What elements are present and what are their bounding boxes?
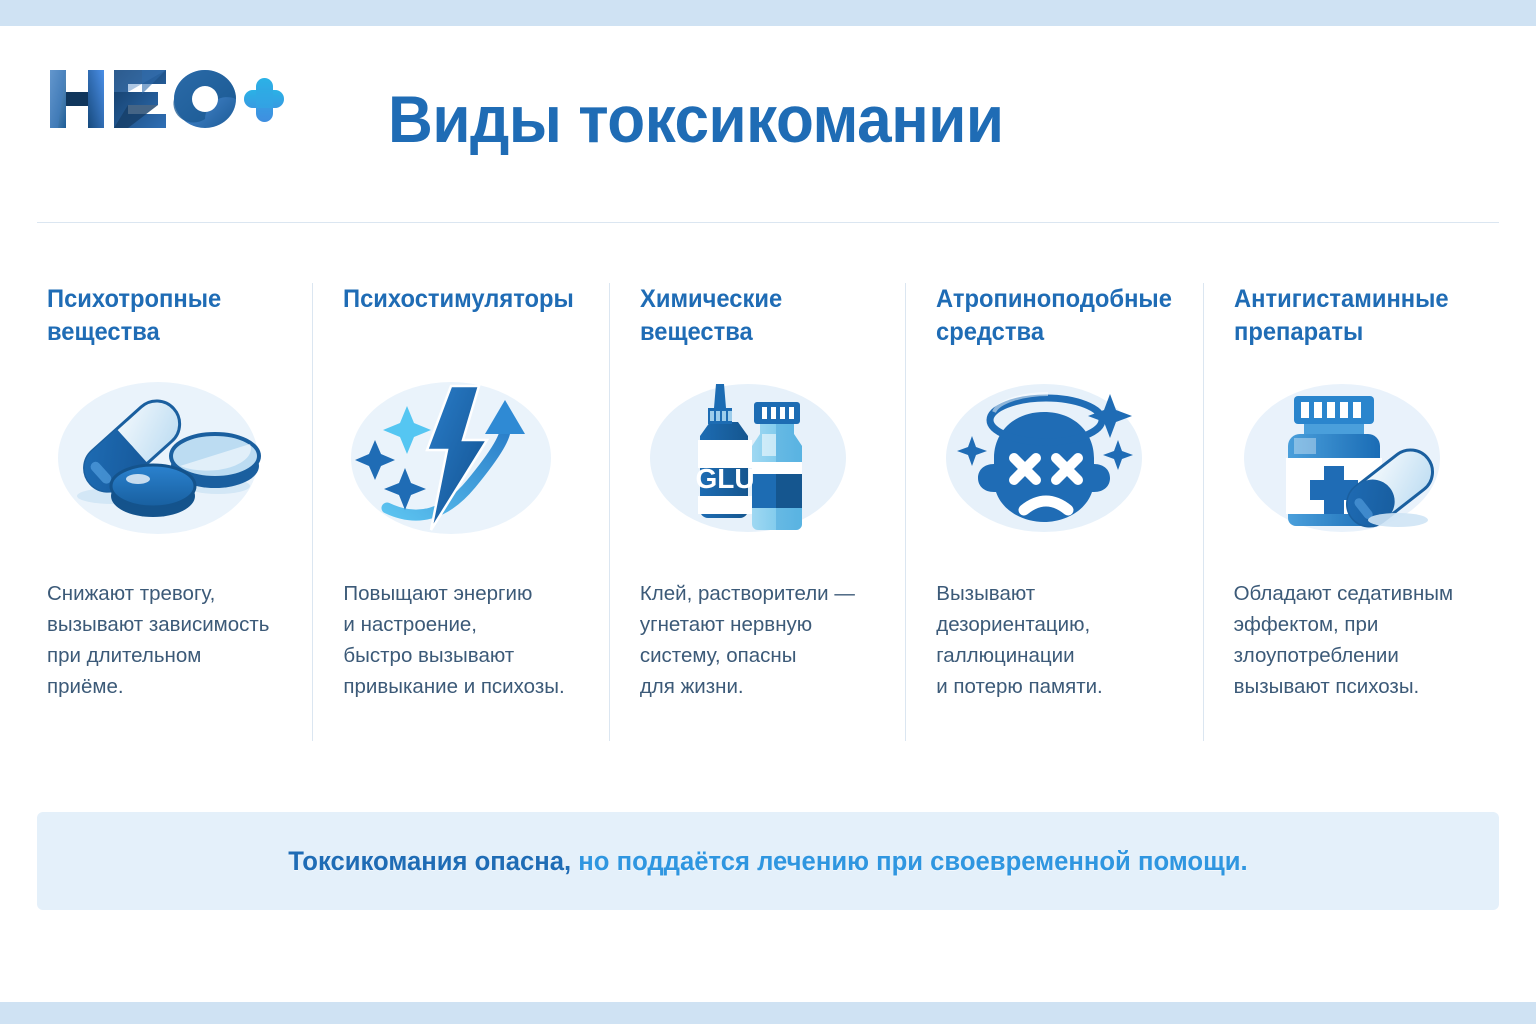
top-decorative-band (0, 0, 1536, 26)
page-title: Виды токсикомании (388, 81, 1004, 157)
category-title: Химические вещества (640, 283, 875, 348)
footer-banner: Токсикомания опасна, но поддаётся лечени… (37, 812, 1499, 910)
header: Виды токсикомании (0, 26, 1536, 196)
category-column-psychotropic: Психотропные вещества (37, 283, 312, 741)
category-description: Снижают тревогу, вызывают зависимость пр… (47, 578, 298, 703)
category-description: Клей, растворители — угнетают нервную си… (640, 578, 891, 703)
dizzy-head-x-eyes-icon (932, 378, 1162, 538)
glue-bottle-label: GLU (695, 463, 754, 494)
footer-emphasis: Токсикомания опасна, (288, 846, 571, 876)
medicine-bottle-cross-capsule-icon (1230, 378, 1460, 538)
glue-solvent-bottles-icon: GLU (636, 378, 866, 538)
heo-plus-logo (46, 64, 286, 134)
category-description: Повыщают энергию и настроение, быстро вы… (343, 578, 594, 703)
footer-message: Токсикомания опасна, но поддаётся лечени… (288, 846, 1247, 877)
category-columns: Психотропные вещества (37, 283, 1499, 741)
category-column-chemicals: Химические вещества (609, 283, 905, 741)
category-column-atropine: Атропиноподобные средства Вызывают дезор… (905, 283, 1202, 741)
bottom-decorative-band (0, 1002, 1536, 1024)
category-column-stimulants: Психостимуляторы Повыщают энергию и наст… (312, 283, 608, 741)
category-title: Психостимуляторы (343, 283, 578, 316)
footer-rest: но поддаётся лечению при своевременной п… (571, 846, 1247, 876)
category-title: Антигистаминные препараты (1234, 283, 1469, 348)
category-description: Вызывают дезориентацию, галлюцинации и п… (936, 578, 1188, 703)
lightning-bolt-sparkles-arrow-up-icon (339, 378, 569, 538)
category-title: Атропиноподобные средства (936, 283, 1172, 348)
category-column-antihistamines: Антигистаминные препараты (1203, 283, 1499, 741)
pills-capsule-tablets-icon (43, 378, 273, 538)
category-description: Обладают седативным эффектом, при злоупо… (1234, 578, 1485, 703)
category-title: Психотропные вещества (47, 283, 282, 348)
header-divider (37, 222, 1499, 223)
